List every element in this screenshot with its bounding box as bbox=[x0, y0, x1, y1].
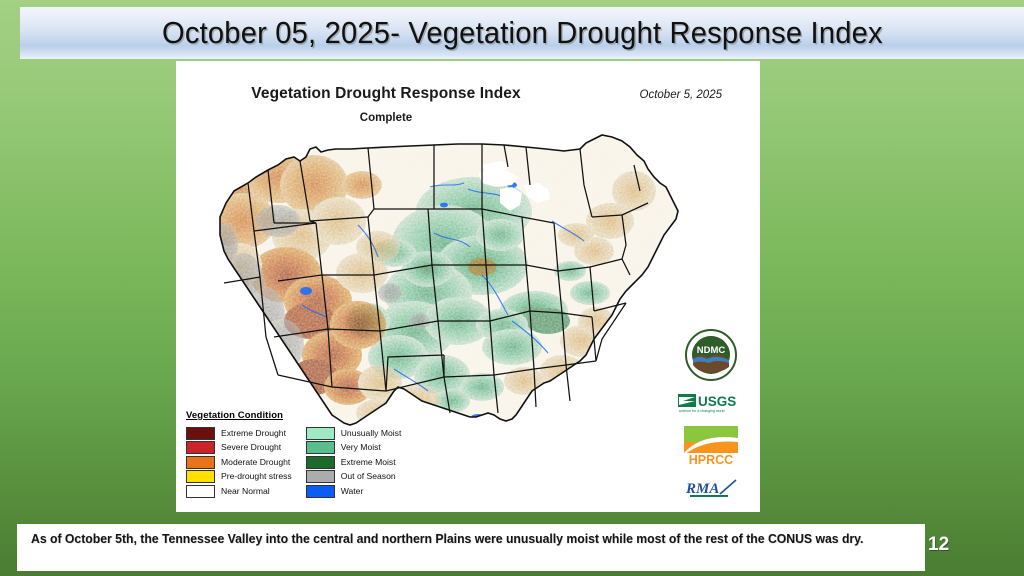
page-title: October 05, 2025- Vegetation Drought Res… bbox=[162, 15, 883, 51]
map-subtitle: Complete bbox=[176, 112, 596, 124]
hprcc-logo: HPRCC bbox=[682, 425, 740, 467]
map-svg bbox=[182, 125, 702, 455]
map-panel: Vegetation Drought Response Index Comple… bbox=[176, 61, 760, 512]
legend-swatch-extreme-drought bbox=[186, 427, 215, 440]
legend-swatch-pre-drought-stress bbox=[186, 470, 215, 483]
page-number: 12 bbox=[928, 534, 949, 556]
legend-item-very-moist: Very Moist bbox=[306, 442, 402, 454]
logo-stack: NDMC USGS science for a changing world H… bbox=[674, 329, 748, 500]
map-date: October 5, 2025 bbox=[640, 89, 722, 101]
legend-item-moderate-drought: Moderate Drought bbox=[186, 456, 292, 468]
ndmc-logo-text: NDMC bbox=[697, 345, 726, 356]
legend-item-out-of-season: Out of Season bbox=[306, 471, 402, 483]
legend-item-extreme-moist: Extreme Moist bbox=[306, 456, 402, 468]
legend-item-extreme-drought: Extreme Drought bbox=[186, 427, 292, 439]
legend-swatch-unusually-moist bbox=[306, 427, 335, 440]
legend-label-water: Water bbox=[341, 487, 364, 496]
usgs-logo-text: USGS bbox=[698, 394, 736, 409]
legend-label-out-of-season: Out of Season bbox=[341, 472, 396, 481]
legend-label-moderate-drought: Moderate Drought bbox=[221, 458, 290, 467]
map-title: Vegetation Drought Response Index bbox=[176, 85, 596, 103]
hprcc-logo-text: HPRCC bbox=[689, 453, 733, 467]
legend-swatch-very-moist bbox=[306, 441, 335, 454]
usgs-logo-tagline: science for a changing world bbox=[679, 409, 725, 413]
caption-text: As of October 5th, the Tennessee Valley … bbox=[31, 530, 887, 548]
legend-item-unusually-moist: Unusually Moist bbox=[306, 427, 402, 439]
ndmc-logo: NDMC bbox=[685, 329, 737, 381]
slide: October 05, 2025- Vegetation Drought Res… bbox=[0, 0, 1024, 576]
caption-box: As of October 5th, the Tennessee Valley … bbox=[17, 524, 925, 571]
legend-label-extreme-moist: Extreme Moist bbox=[341, 458, 396, 467]
rma-logo: RMA bbox=[684, 478, 738, 500]
legend-swatch-water bbox=[306, 485, 335, 498]
rma-logo-text: RMA bbox=[685, 481, 719, 497]
legend-item-water: Water bbox=[306, 485, 402, 497]
legend-label-very-moist: Very Moist bbox=[341, 443, 381, 452]
legend-swatch-out-of-season bbox=[306, 470, 335, 483]
legend-column-drought: Extreme Drought Severe Drought Moderate … bbox=[186, 427, 292, 497]
legend-title: Vegetation Condition bbox=[186, 410, 446, 421]
legend-swatch-moderate-drought bbox=[186, 456, 215, 469]
legend-label-severe-drought: Severe Drought bbox=[221, 443, 281, 452]
legend-column-moist: Unusually Moist Very Moist Extreme Moist… bbox=[306, 427, 402, 497]
slide-title-bar: October 05, 2025- Vegetation Drought Res… bbox=[20, 7, 1024, 59]
legend-swatch-near-normal bbox=[186, 485, 215, 498]
legend-label-extreme-drought: Extreme Drought bbox=[221, 429, 286, 438]
legend-label-near-normal: Near Normal bbox=[221, 487, 270, 496]
legend-item-pre-drought-stress: Pre-drought stress bbox=[186, 471, 292, 483]
legend-item-severe-drought: Severe Drought bbox=[186, 442, 292, 454]
legend: Vegetation Condition Extreme Drought Sev… bbox=[186, 410, 446, 497]
legend-swatch-extreme-moist bbox=[306, 456, 335, 469]
legend-label-pre-drought-stress: Pre-drought stress bbox=[221, 472, 292, 481]
usgs-logo: USGS science for a changing world bbox=[678, 392, 744, 414]
us-drought-map bbox=[182, 125, 702, 455]
legend-swatch-severe-drought bbox=[186, 441, 215, 454]
legend-item-near-normal: Near Normal bbox=[186, 485, 292, 497]
legend-label-unusually-moist: Unusually Moist bbox=[341, 429, 402, 438]
